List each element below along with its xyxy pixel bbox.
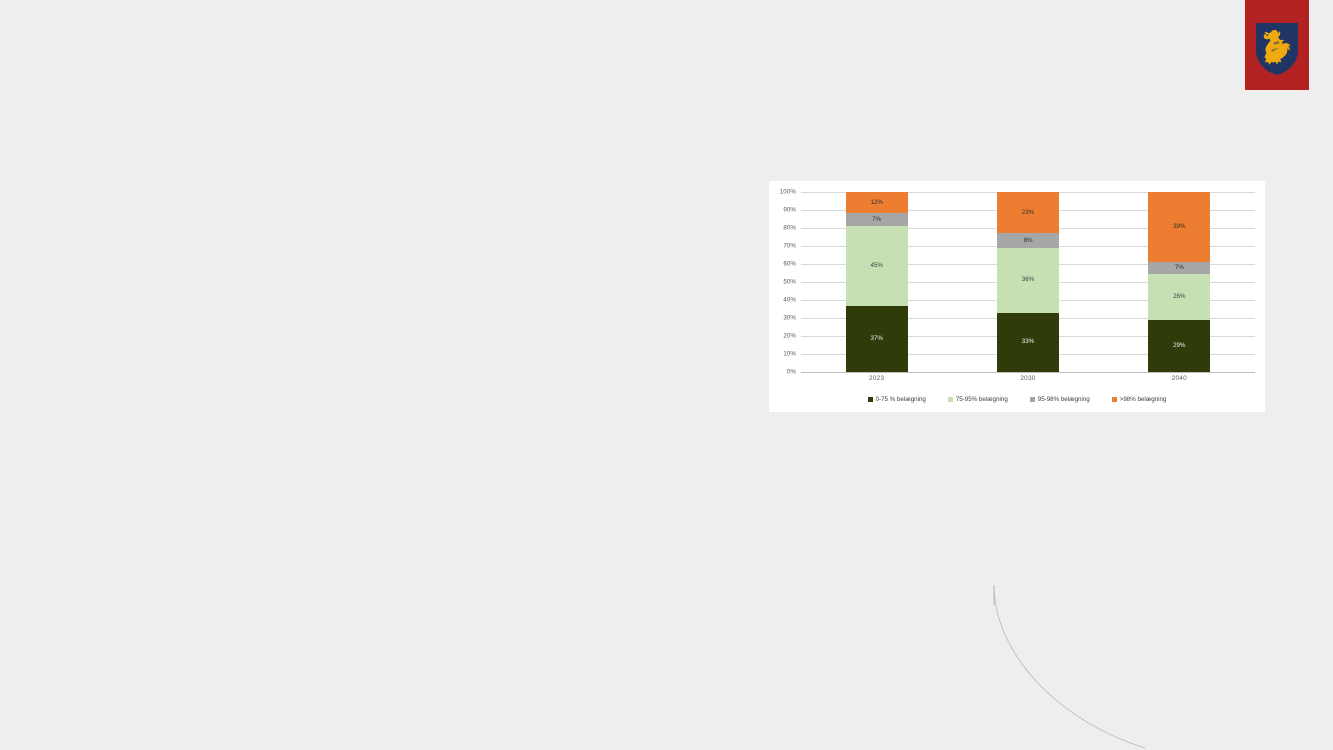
bar-value-label: 7% (872, 217, 881, 223)
y-tick-50: 50% (783, 279, 796, 286)
bar-segment-95-98[interactable]: 7% (846, 213, 908, 225)
y-tick-20: 20% (783, 333, 796, 340)
bar-group-2030: 33% 36% 8% 23% (952, 192, 1103, 372)
bar-value-label: 26% (1173, 294, 1185, 300)
legend-label: 0-75 % belægning (876, 396, 926, 403)
y-tick-40: 40% (783, 297, 796, 304)
bar-value-label: 23% (1022, 210, 1034, 216)
y-tick-90: 90% (783, 207, 796, 214)
y-axis: 100% 90% 80% 70% 60% 50% 40% 30% 20% 10%… (769, 192, 799, 372)
x-tick-2040: 2040 (1104, 375, 1255, 382)
legend-swatch-icon (948, 397, 953, 402)
bar-segment-95-98[interactable]: 7% (1148, 262, 1210, 274)
x-axis-line (801, 372, 1255, 373)
bar-value-label: 45% (870, 263, 882, 269)
legend-swatch-icon (1112, 397, 1117, 402)
legend-label: 95-98% belægning (1038, 396, 1090, 403)
bar-value-label: 7% (1175, 265, 1184, 271)
bar-value-label: 33% (1022, 339, 1034, 345)
bar-stack: 29% 26% 7% 39% (1148, 192, 1210, 372)
x-tick-2030: 2030 (952, 375, 1103, 382)
bar-segment-over-98[interactable]: 39% (1148, 192, 1210, 262)
bar-value-label: 12% (870, 200, 882, 206)
bar-group-2023: 37% 45% 7% 12% (801, 192, 952, 372)
bar-segment-0-75[interactable]: 29% (1148, 320, 1210, 372)
bar-segment-0-75[interactable]: 33% (997, 313, 1059, 372)
bar-segment-over-98[interactable]: 23% (997, 192, 1059, 233)
y-tick-70: 70% (783, 243, 796, 250)
bar-value-label: 8% (1024, 238, 1033, 244)
bar-segment-95-98[interactable]: 8% (997, 233, 1059, 247)
bar-segment-75-95[interactable]: 36% (997, 248, 1059, 313)
bar-value-label: 39% (1173, 224, 1185, 230)
legend-item-over-98[interactable]: >98% belægning (1112, 396, 1167, 403)
y-tick-100: 100% (780, 189, 796, 196)
bar-stack: 37% 45% 7% 12% (846, 192, 908, 372)
coat-of-arms-banner (1245, 0, 1309, 90)
legend-item-75-95[interactable]: 75-95% belægning (948, 396, 1008, 403)
legend-label: 75-95% belægning (956, 396, 1008, 403)
bar-value-label: 29% (1173, 343, 1185, 349)
y-tick-10: 10% (783, 351, 796, 358)
legend-label: >98% belægning (1120, 396, 1167, 403)
legend-swatch-icon (868, 397, 873, 402)
coat-of-arms-shield (1255, 22, 1299, 76)
x-axis: 2023 2030 2040 (801, 375, 1255, 382)
y-tick-0: 0% (787, 369, 796, 376)
legend-swatch-icon (1030, 397, 1035, 402)
bar-segment-0-75[interactable]: 37% (846, 306, 908, 372)
chart-panel: 100% 90% 80% 70% 60% 50% 40% 30% 20% 10%… (769, 181, 1265, 412)
bar-segment-75-95[interactable]: 45% (846, 226, 908, 306)
y-tick-30: 30% (783, 315, 796, 322)
bar-value-label: 36% (1022, 277, 1034, 283)
bar-stack: 33% 36% 8% 23% (997, 192, 1059, 372)
chart-legend: 0-75 % belægning 75-95% belægning 95-98%… (769, 396, 1265, 403)
decorative-arc (960, 560, 1333, 750)
bar-group-2040: 29% 26% 7% 39% (1104, 192, 1255, 372)
dragon-icon (1255, 22, 1299, 76)
bar-segment-over-98[interactable]: 12% (846, 192, 908, 213)
bar-value-label: 37% (870, 336, 882, 342)
legend-item-95-98[interactable]: 95-98% belægning (1030, 396, 1090, 403)
legend-item-0-75[interactable]: 0-75 % belægning (868, 396, 926, 403)
bar-series-container: 37% 45% 7% 12% 33% 36% 8% 23% 29% (801, 192, 1255, 372)
plot-area: 37% 45% 7% 12% 33% 36% 8% 23% 29% (801, 192, 1255, 372)
y-tick-60: 60% (783, 261, 796, 268)
y-tick-80: 80% (783, 225, 796, 232)
bar-segment-75-95[interactable]: 26% (1148, 274, 1210, 320)
x-tick-2023: 2023 (801, 375, 952, 382)
